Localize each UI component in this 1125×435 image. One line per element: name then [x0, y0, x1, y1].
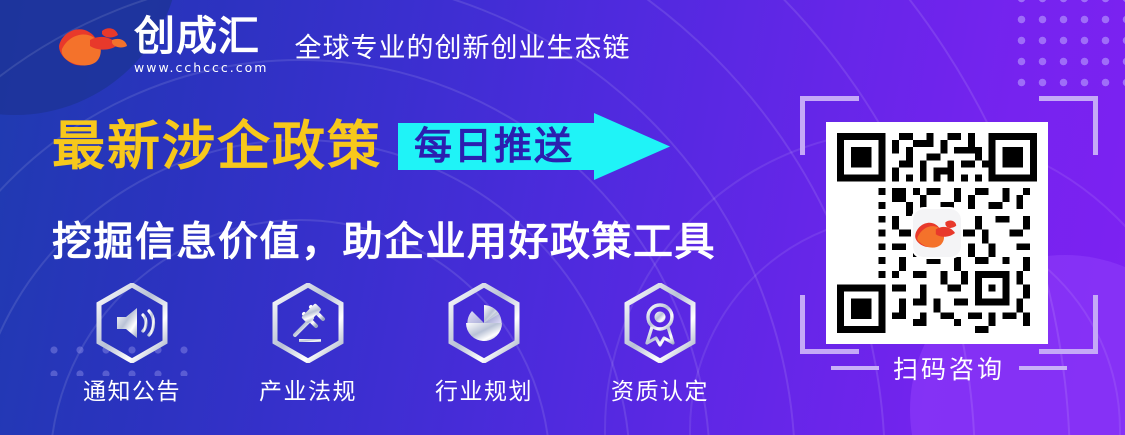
feature-item-qualification[interactable]: 资质认定 — [572, 283, 748, 406]
feature-label: 资质认定 — [611, 372, 709, 406]
brand-header: 创成汇 www.cchccc.com 全球专业的创新创业生态链 — [56, 16, 630, 75]
brand-tagline: 全球专业的创新创业生态链 — [294, 26, 630, 65]
award-ribbon-icon — [623, 283, 697, 363]
brand-url: www.cchccc.com — [134, 60, 268, 75]
feature-list: 通知公告 — [44, 283, 748, 406]
feature-label: 产业法规 — [259, 372, 357, 406]
headline-main: 最新涉企政策 — [52, 120, 382, 173]
feature-item-regulations[interactable]: 产业法规 — [220, 283, 396, 406]
feature-label: 行业规划 — [435, 372, 533, 406]
qr-code-image[interactable] — [826, 122, 1048, 344]
qr-caption: 扫码咨询 — [893, 350, 1005, 386]
pie-chart-icon — [447, 283, 521, 363]
qr-code-panel: 扫码咨询 — [800, 96, 1098, 394]
headline-row: 最新涉企政策 每日推送 — [52, 113, 670, 180]
feature-label: 通知公告 — [83, 372, 181, 406]
phoenix-bird-logo-icon — [56, 16, 130, 74]
brand-name: 创成汇 — [134, 16, 260, 58]
arrow-tag-label: 每日推送 — [414, 128, 574, 166]
feature-item-industry-planning[interactable]: 行业规划 — [396, 283, 572, 406]
gavel-icon — [271, 283, 345, 363]
caption-divider-right — [1019, 366, 1067, 370]
brand-logotype: 创成汇 www.cchccc.com — [134, 16, 268, 75]
headline-subheading: 挖掘信息价值，助企业用好政策工具 — [52, 209, 716, 267]
megaphone-icon — [95, 283, 169, 363]
feature-item-notices[interactable]: 通知公告 — [44, 283, 220, 406]
qr-center-phoenix-logo-icon — [913, 209, 961, 257]
qr-caption-row: 扫码咨询 — [800, 350, 1098, 386]
dot-grid-pattern-top-right — [1005, 0, 1125, 92]
promotional-banner: 创成汇 www.cchccc.com 全球专业的创新创业生态链 最新涉企政策 每… — [0, 0, 1125, 435]
caption-divider-left — [831, 366, 879, 370]
daily-push-arrow-tag: 每日推送 — [398, 113, 670, 180]
